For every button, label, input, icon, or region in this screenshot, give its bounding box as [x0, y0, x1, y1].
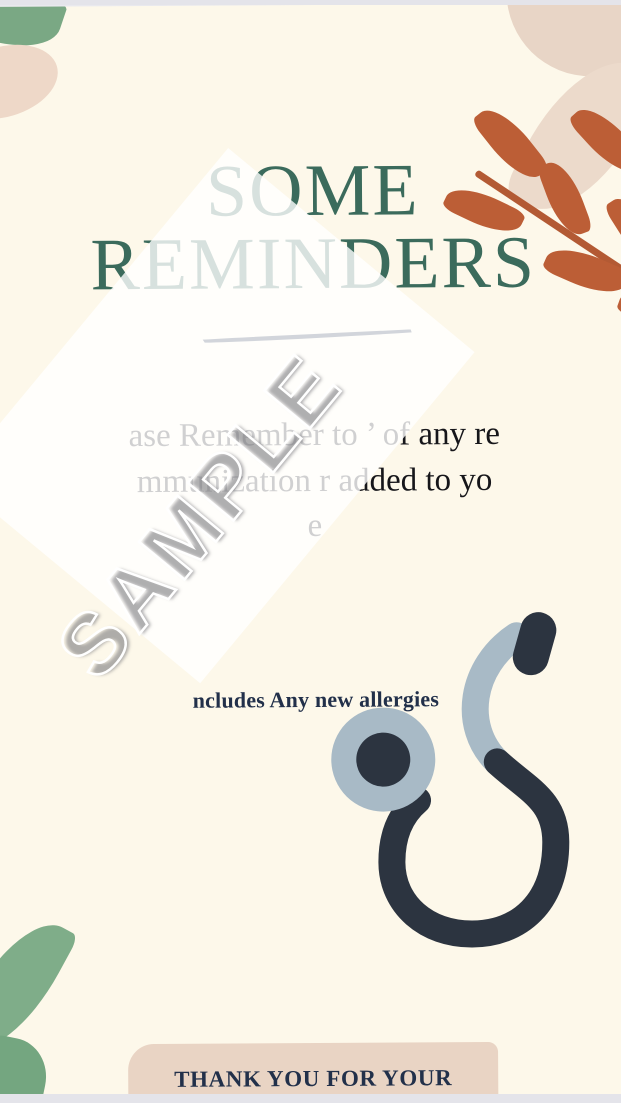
blush-petal-decoration [0, 67, 5, 157]
green-leaf-decoration [0, 1030, 53, 1100]
banner-line-1: THANK YOU FOR YOUR [128, 1062, 498, 1096]
stethoscope-illustration [320, 602, 621, 1005]
bottom-edge-strip [0, 1094, 621, 1103]
poster-canvas: SOME REMINDERS ase Remember to ’ of any … [0, 0, 621, 1103]
green-leaf-decoration [0, 2, 68, 60]
blush-petal-decoration [506, 2, 621, 77]
green-leaf-decoration [0, 906, 79, 1068]
green-leaf-decoration [0, 960, 14, 1035]
top-edge-strip [0, 0, 621, 5]
blush-petal-decoration [0, 33, 67, 132]
poster-page: SOME REMINDERS ase Remember to ’ of any … [0, 2, 621, 1100]
